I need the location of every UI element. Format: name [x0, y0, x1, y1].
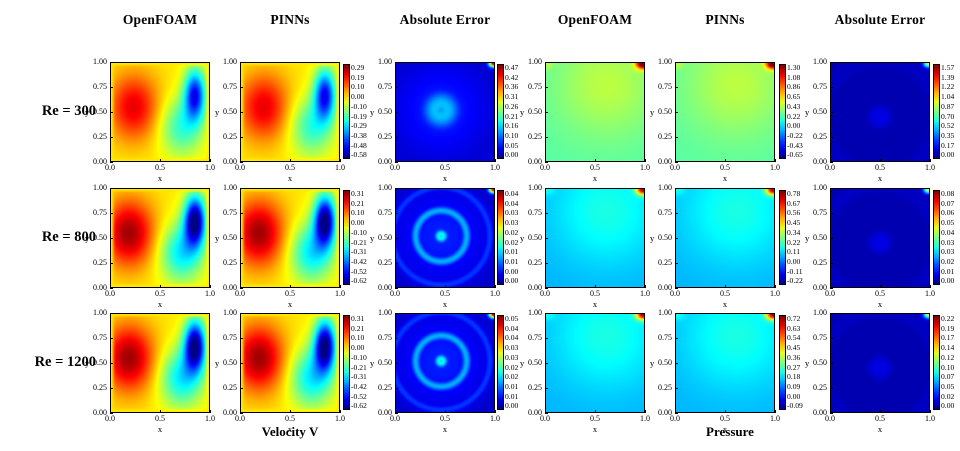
colorbar-tick-label: 1.30 — [787, 64, 803, 72]
figure-canvas: OpenFOAMPINNsAbsolute ErrorOpenFOAMPINNs… — [0, 0, 960, 451]
x-tick-label: 0.0 — [825, 290, 835, 298]
group-label-pressure: Pressure — [660, 424, 800, 440]
colorbar-tick-label: 0.04 — [505, 325, 518, 333]
y-tick-label: 0.50 — [658, 234, 672, 242]
heatmap-plot-area — [675, 188, 775, 288]
colorbar-tick-label: 0.36 — [787, 354, 803, 362]
x-axis-label: x — [593, 173, 597, 183]
heatmap-field — [111, 314, 209, 412]
x-tick-mark — [675, 410, 676, 413]
y-tick-label: 0.50 — [93, 234, 107, 242]
x-tick-mark — [725, 159, 726, 162]
y-tick-label: 1.00 — [813, 184, 827, 192]
colorbar-tick-label: 0.45 — [787, 344, 803, 352]
panel-velocity-v-re300-openfoam: 0.000.250.500.751.000.00.51.0xy — [110, 62, 210, 162]
colorbar-tick-label: 0.67 — [787, 200, 803, 208]
panel-pressure-re300-pinns: 0.000.250.500.751.000.00.51.0xy — [675, 62, 775, 162]
y-tick-mark — [240, 388, 243, 389]
y-tick-label: 0.75 — [528, 83, 542, 91]
y-tick-label: 0.75 — [93, 83, 107, 91]
x-tick-mark — [110, 285, 111, 288]
heatmap-plot-area — [395, 62, 495, 162]
heatmap-plot-area — [395, 313, 495, 413]
y-tick-mark — [830, 238, 833, 239]
y-tick-label: 0.75 — [223, 83, 237, 91]
y-tick-label: 0.25 — [378, 259, 392, 267]
colorbar-tick-labels: 1.301.080.860.650.430.220.00-0.22-0.43-0… — [787, 64, 803, 159]
colorbar-tick-label: -0.62 — [351, 277, 367, 285]
x-axis-label: x — [593, 424, 597, 434]
colorbar-tick-label: 0.72 — [787, 315, 803, 323]
y-axis-label: y — [215, 358, 219, 368]
colorbar-tick-label: 0.00 — [787, 122, 803, 130]
panel-pressure-re300-openfoam: 0.000.250.500.751.000.00.51.0xy — [545, 62, 645, 162]
x-tick-label: 0.0 — [670, 415, 680, 423]
x-tick-label: 1.0 — [490, 290, 500, 298]
x-tick-mark — [395, 410, 396, 413]
x-tick-mark — [775, 285, 776, 288]
y-tick-mark — [675, 313, 678, 314]
y-tick-label: 0.75 — [658, 334, 672, 342]
x-tick-mark — [595, 285, 596, 288]
x-tick-mark — [290, 285, 291, 288]
heatmap-plot-area — [545, 62, 645, 162]
y-tick-mark — [110, 263, 113, 264]
y-tick-mark — [240, 238, 243, 239]
panel-pressure-re1200-openfoam: 0.000.250.500.751.000.00.51.0xy — [545, 313, 645, 413]
x-axis-label: x — [288, 173, 292, 183]
panel-velocity-v-re1200-absolute-error: 0.000.250.500.751.000.00.51.0xy — [395, 313, 495, 413]
y-tick-mark — [395, 87, 398, 88]
y-tick-label: 0.75 — [813, 334, 827, 342]
colorbar-tick-label: 0.56 — [787, 209, 803, 217]
x-tick-label: 0.0 — [390, 290, 400, 298]
x-tick-label: 1.0 — [205, 164, 215, 172]
x-tick-mark — [545, 285, 546, 288]
x-tick-mark — [930, 159, 931, 162]
x-tick-label: 0.0 — [235, 290, 245, 298]
colorbar-tick-label: 0.04 — [941, 229, 954, 237]
x-tick-mark — [240, 410, 241, 413]
x-tick-mark — [725, 285, 726, 288]
y-tick-mark — [110, 363, 113, 364]
colorbar-tick-label: 0.00 — [351, 93, 367, 101]
colorbar-tick-label: 1.57 — [941, 64, 954, 72]
colorbar-tick-label: 0.02 — [505, 239, 518, 247]
x-tick-label: 1.0 — [205, 290, 215, 298]
x-tick-label: 1.0 — [925, 164, 935, 172]
colorbar-tick-label: 0.04 — [505, 334, 518, 342]
y-tick-label: 1.00 — [223, 184, 237, 192]
x-tick-mark — [675, 285, 676, 288]
x-tick-label: 1.0 — [770, 164, 780, 172]
y-tick-mark — [395, 388, 398, 389]
colorbar-tick-label: 0.03 — [505, 344, 518, 352]
x-tick-label: 0.0 — [540, 290, 550, 298]
y-tick-label: 0.75 — [223, 334, 237, 342]
x-tick-label: 0.0 — [105, 415, 115, 423]
x-tick-mark — [445, 159, 446, 162]
colorbar-tick-label: 0.01 — [505, 248, 518, 256]
y-tick-mark — [110, 188, 113, 189]
y-tick-mark — [545, 213, 548, 214]
y-tick-label: 0.75 — [658, 209, 672, 217]
y-tick-label: 0.50 — [223, 234, 237, 242]
colorbar-tick-label: 0.21 — [505, 113, 518, 121]
x-tick-mark — [110, 159, 111, 162]
colorbar-gradient — [779, 190, 786, 285]
colorbar-tick-label: 0.47 — [505, 64, 518, 72]
x-tick-label: 0.0 — [825, 415, 835, 423]
colorbar-tick-labels: 0.780.670.560.450.340.220.110.00-0.11-0.… — [787, 190, 803, 285]
colorbar-tick-label: 0.00 — [941, 151, 954, 159]
y-axis-label: y — [650, 233, 654, 243]
y-tick-label: 0.25 — [658, 133, 672, 141]
heatmap-field — [396, 189, 494, 287]
y-tick-label: 1.00 — [223, 58, 237, 66]
y-tick-mark — [545, 388, 548, 389]
y-tick-mark — [240, 363, 243, 364]
y-tick-mark — [545, 112, 548, 113]
colorbar-tick-label: 0.10 — [351, 83, 367, 91]
y-tick-mark — [830, 112, 833, 113]
y-tick-mark — [675, 62, 678, 63]
colorbar-gradient — [933, 315, 940, 410]
y-tick-mark — [110, 238, 113, 239]
colorbar-tick-label: 0.65 — [787, 93, 803, 101]
colorbar-tick-label: 0.87 — [941, 103, 954, 111]
colorbar-tick-label: 0.05 — [505, 142, 518, 150]
y-axis-label: y — [520, 358, 524, 368]
colorbar-tick-label: -0.21 — [351, 364, 367, 372]
heatmap-plot-area — [675, 313, 775, 413]
colorbar-tick-label: 0.03 — [941, 248, 954, 256]
x-tick-mark — [340, 285, 341, 288]
y-axis-label: y — [520, 107, 524, 117]
heatmap-field — [831, 314, 929, 412]
x-tick-mark — [775, 410, 776, 413]
colorbar-tick-label: -0.42 — [351, 383, 367, 391]
colorbar-tick-label: -0.31 — [351, 373, 367, 381]
y-axis-label: y — [85, 233, 89, 243]
y-tick-label: 1.00 — [658, 58, 672, 66]
heatmap-plot-area — [830, 62, 930, 162]
colorbar-tick-label: -0.09 — [787, 402, 803, 410]
y-tick-mark — [830, 313, 833, 314]
x-tick-label: 1.0 — [205, 415, 215, 423]
colorbar-tick-label: 0.10 — [351, 334, 367, 342]
x-tick-label: 1.0 — [335, 290, 345, 298]
panel-velocity-v-re300-absolute-error: 0.000.250.500.751.000.00.51.0xy — [395, 62, 495, 162]
panel-velocity-v-re1200-pinns: 0.000.250.500.751.000.00.51.0xy — [240, 313, 340, 413]
colorbar-tick-label: 0.14 — [941, 344, 954, 352]
colorbar-tick-label: -0.19 — [351, 113, 367, 121]
y-tick-label: 0.50 — [528, 359, 542, 367]
colorbar-tick-label: 0.11 — [787, 248, 803, 256]
x-tick-label: 0.5 — [440, 290, 450, 298]
heatmap-field — [546, 63, 644, 161]
y-tick-mark — [675, 238, 678, 239]
x-tick-label: 0.5 — [440, 415, 450, 423]
colorbar: 0.080.070.060.050.040.030.030.020.010.00 — [933, 190, 960, 285]
x-tick-label: 1.0 — [640, 415, 650, 423]
colorbar-tick-label: -0.31 — [351, 248, 367, 256]
x-tick-mark — [395, 285, 396, 288]
y-tick-label: 0.50 — [658, 359, 672, 367]
y-axis-label: y — [805, 358, 809, 368]
column-title-4: PINNs — [655, 12, 795, 28]
colorbar-tick-label: 0.27 — [787, 364, 803, 372]
colorbar-tick-label: 0.01 — [505, 258, 518, 266]
x-tick-label: 0.0 — [825, 164, 835, 172]
colorbar-tick-label: 0.52 — [941, 122, 954, 130]
colorbar-tick-label: 0.35 — [941, 132, 954, 140]
y-tick-mark — [675, 87, 678, 88]
colorbar-tick-label: 0.04 — [505, 190, 518, 198]
x-axis-label: x — [593, 299, 597, 309]
y-tick-label: 1.00 — [813, 309, 827, 317]
heatmap-field — [676, 63, 774, 161]
x-tick-label: 1.0 — [770, 290, 780, 298]
column-title-0: OpenFOAM — [90, 12, 230, 28]
colorbar-tick-label: 0.01 — [505, 393, 518, 401]
colorbar-tick-label: 0.17 — [941, 334, 954, 342]
colorbar-tick-label: 0.00 — [787, 393, 803, 401]
colorbar-tick-label: 0.26 — [505, 103, 518, 111]
panel-velocity-v-re800-openfoam: 0.000.250.500.751.000.00.51.0xy — [110, 188, 210, 288]
y-tick-label: 0.50 — [93, 359, 107, 367]
colorbar-tick-label: 0.03 — [505, 354, 518, 362]
colorbar-tick-label: 0.70 — [941, 113, 954, 121]
x-tick-label: 0.0 — [390, 164, 400, 172]
y-tick-label: 1.00 — [528, 309, 542, 317]
x-tick-label: 0.0 — [670, 164, 680, 172]
x-tick-label: 0.5 — [285, 164, 295, 172]
y-tick-label: 0.25 — [658, 384, 672, 392]
y-tick-mark — [830, 188, 833, 189]
colorbar-tick-label: 1.39 — [941, 74, 954, 82]
colorbar-gradient — [497, 315, 504, 410]
x-tick-label: 1.0 — [490, 415, 500, 423]
heatmap-plot-area — [110, 313, 210, 413]
y-tick-mark — [675, 263, 678, 264]
x-tick-mark — [545, 410, 546, 413]
y-tick-label: 0.75 — [378, 334, 392, 342]
x-tick-mark — [880, 285, 881, 288]
colorbar-tick-label: 0.31 — [505, 93, 518, 101]
panel-pressure-re1200-pinns: 0.000.250.500.751.000.00.51.0xy — [675, 313, 775, 413]
x-tick-label: 0.0 — [105, 164, 115, 172]
x-tick-mark — [290, 159, 291, 162]
colorbar-tick-label: 0.00 — [351, 219, 367, 227]
y-tick-label: 1.00 — [223, 309, 237, 317]
x-axis-label: x — [878, 173, 882, 183]
colorbar-gradient — [343, 190, 350, 285]
y-tick-label: 0.25 — [813, 133, 827, 141]
heatmap-plot-area — [545, 313, 645, 413]
y-tick-label: 0.50 — [813, 108, 827, 116]
colorbar-tick-label: 0.78 — [787, 190, 803, 198]
y-tick-label: 1.00 — [528, 58, 542, 66]
y-tick-mark — [240, 112, 243, 113]
x-axis-label: x — [288, 299, 292, 309]
x-tick-label: 0.5 — [155, 164, 165, 172]
y-tick-label: 0.50 — [528, 108, 542, 116]
y-tick-mark — [545, 363, 548, 364]
colorbar-tick-label: 0.03 — [941, 239, 954, 247]
x-tick-label: 0.5 — [155, 415, 165, 423]
y-tick-mark — [830, 213, 833, 214]
colorbar-gradient — [933, 64, 940, 159]
x-tick-mark — [930, 285, 931, 288]
x-tick-mark — [290, 410, 291, 413]
y-tick-mark — [240, 62, 243, 63]
x-tick-label: 0.5 — [720, 164, 730, 172]
colorbar-tick-label: 0.22 — [941, 315, 954, 323]
x-tick-mark — [445, 410, 446, 413]
y-axis-label: y — [520, 233, 524, 243]
colorbar-tick-label: 1.08 — [787, 74, 803, 82]
colorbar-tick-labels: 0.310.210.100.00-0.10-0.21-0.31-0.42-0.5… — [351, 315, 367, 410]
heatmap-plot-area — [110, 188, 210, 288]
x-axis-label: x — [723, 299, 727, 309]
colorbar-tick-label: -0.22 — [787, 132, 803, 140]
colorbar-gradient — [343, 315, 350, 410]
colorbar-tick-label: 0.10 — [351, 209, 367, 217]
colorbar-tick-labels: 0.040.040.030.030.020.020.010.010.000.00 — [505, 190, 518, 285]
y-tick-label: 0.75 — [813, 209, 827, 217]
y-tick-label: 0.25 — [813, 384, 827, 392]
y-tick-mark — [830, 388, 833, 389]
heatmap-plot-area — [110, 62, 210, 162]
y-tick-label: 0.25 — [528, 259, 542, 267]
y-tick-mark — [110, 112, 113, 113]
x-tick-mark — [675, 159, 676, 162]
colorbar: 0.220.190.170.140.120.100.070.050.020.00 — [933, 315, 960, 410]
y-tick-mark — [395, 213, 398, 214]
x-axis-label: x — [443, 424, 447, 434]
heatmap-plot-area — [240, 313, 340, 413]
colorbar-tick-label: 1.22 — [941, 83, 954, 91]
y-tick-mark — [240, 263, 243, 264]
x-tick-label: 0.0 — [390, 415, 400, 423]
x-tick-label: 1.0 — [335, 164, 345, 172]
x-tick-label: 0.5 — [590, 164, 600, 172]
y-tick-label: 0.75 — [223, 209, 237, 217]
heatmap-field — [241, 314, 339, 412]
colorbar: 1.571.391.221.040.870.700.520.350.170.00 — [933, 64, 960, 159]
x-tick-label: 0.5 — [875, 164, 885, 172]
x-axis-label: x — [723, 173, 727, 183]
panel-velocity-v-re300-pinns: 0.000.250.500.751.000.00.51.0xy — [240, 62, 340, 162]
y-tick-mark — [110, 313, 113, 314]
y-tick-label: 0.75 — [93, 209, 107, 217]
colorbar: 0.290.190.100.00-0.10-0.19-0.29-0.38-0.4… — [343, 64, 383, 159]
y-tick-mark — [240, 87, 243, 88]
x-tick-label: 0.0 — [540, 415, 550, 423]
colorbar-tick-label: 0.07 — [941, 373, 954, 381]
x-tick-mark — [340, 410, 341, 413]
colorbar-tick-label: 0.17 — [941, 142, 954, 150]
y-tick-mark — [830, 62, 833, 63]
x-tick-label: 1.0 — [770, 415, 780, 423]
y-tick-mark — [545, 338, 548, 339]
x-tick-label: 0.5 — [440, 164, 450, 172]
colorbar: 0.310.210.100.00-0.10-0.21-0.31-0.42-0.5… — [343, 190, 383, 285]
colorbar-tick-label: 0.45 — [787, 219, 803, 227]
y-tick-mark — [240, 188, 243, 189]
y-tick-label: 0.75 — [528, 209, 542, 217]
heatmap-plot-area — [240, 188, 340, 288]
y-tick-mark — [395, 137, 398, 138]
heatmap-field — [111, 189, 209, 287]
y-tick-label: 1.00 — [658, 309, 672, 317]
colorbar-tick-label: 0.10 — [505, 132, 518, 140]
x-tick-label: 0.5 — [285, 290, 295, 298]
x-axis-label: x — [158, 173, 162, 183]
colorbar-tick-label: 0.00 — [505, 151, 518, 159]
heatmap-plot-area — [830, 313, 930, 413]
colorbar-tick-label: -0.10 — [351, 103, 367, 111]
y-tick-label: 0.75 — [528, 334, 542, 342]
colorbar-tick-label: -0.58 — [351, 151, 367, 159]
colorbar-tick-label: 0.00 — [505, 402, 518, 410]
y-axis-label: y — [650, 358, 654, 368]
colorbar-tick-label: 0.31 — [351, 315, 367, 323]
colorbar-tick-label: 0.18 — [787, 373, 803, 381]
colorbar-tick-label: 0.00 — [787, 258, 803, 266]
colorbar-tick-label: 0.00 — [505, 268, 518, 276]
panel-pressure-re1200-absolute-error: 0.000.250.500.751.000.00.51.0xy — [830, 313, 930, 413]
heatmap-field — [396, 314, 494, 412]
y-tick-label: 0.75 — [813, 83, 827, 91]
colorbar-tick-label: 0.42 — [505, 74, 518, 82]
colorbar-tick-label: -0.11 — [787, 268, 803, 276]
y-tick-mark — [830, 87, 833, 88]
colorbar-tick-label: 0.21 — [351, 325, 367, 333]
colorbar-tick-label: 0.05 — [505, 315, 518, 323]
y-tick-mark — [830, 363, 833, 364]
y-axis-label: y — [370, 358, 374, 368]
y-axis-label: y — [805, 107, 809, 117]
y-tick-label: 0.25 — [223, 259, 237, 267]
x-tick-label: 1.0 — [925, 415, 935, 423]
y-tick-label: 0.50 — [813, 359, 827, 367]
x-tick-mark — [545, 159, 546, 162]
colorbar-tick-label: -0.43 — [787, 142, 803, 150]
colorbar-tick-label: 0.02 — [505, 229, 518, 237]
y-tick-label: 0.75 — [378, 209, 392, 217]
colorbar-tick-labels: 1.571.391.221.040.870.700.520.350.170.00 — [941, 64, 954, 159]
column-title-1: PINNs — [220, 12, 360, 28]
y-tick-label: 0.25 — [378, 133, 392, 141]
x-tick-mark — [340, 159, 341, 162]
y-tick-label: 0.25 — [528, 384, 542, 392]
x-tick-mark — [495, 159, 496, 162]
y-tick-mark — [545, 87, 548, 88]
x-tick-mark — [880, 159, 881, 162]
colorbar-tick-label: 0.07 — [941, 200, 954, 208]
colorbar-tick-label: 0.09 — [787, 383, 803, 391]
y-tick-label: 0.25 — [658, 259, 672, 267]
row-label-re-1200: Re = 1200 — [8, 354, 96, 371]
colorbar-tick-label: 0.36 — [505, 83, 518, 91]
x-tick-label: 0.5 — [875, 290, 885, 298]
colorbar-tick-label: 0.04 — [505, 200, 518, 208]
x-tick-label: 0.0 — [235, 164, 245, 172]
colorbar-tick-label: -0.65 — [787, 151, 803, 159]
heatmap-plot-area — [545, 188, 645, 288]
